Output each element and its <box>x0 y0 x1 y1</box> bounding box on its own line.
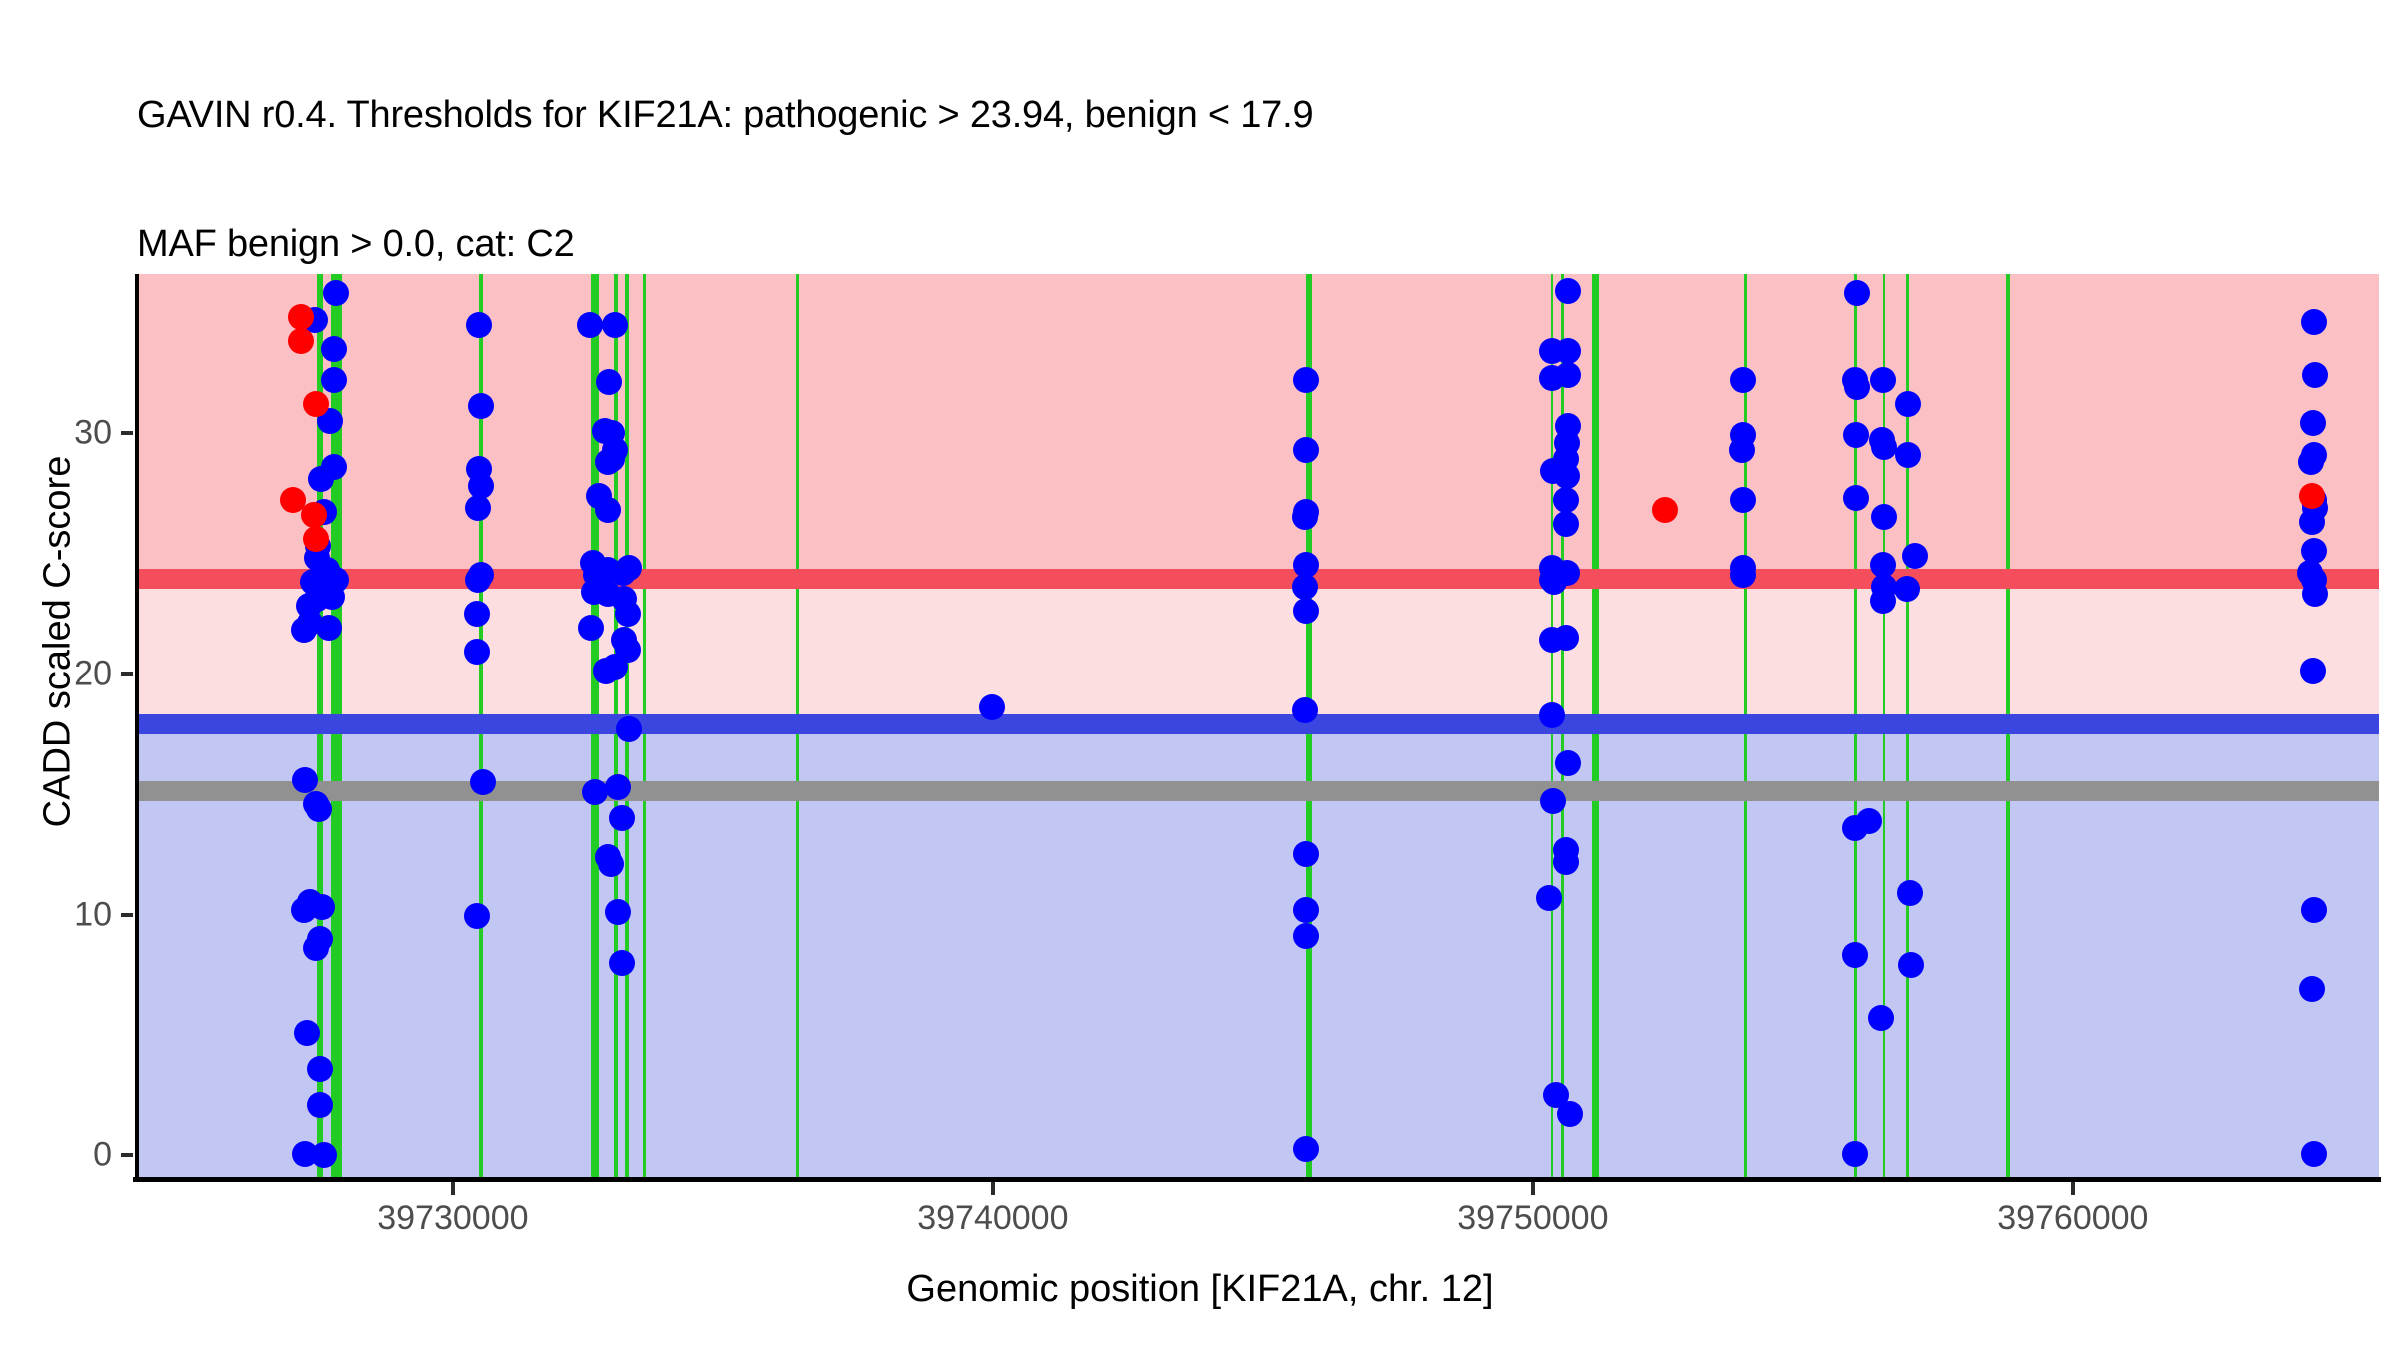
benign-point <box>1555 338 1581 364</box>
benign-point <box>1292 504 1318 530</box>
benign-point <box>466 312 492 338</box>
benign-point <box>308 466 334 492</box>
benign-point <box>1870 367 1896 393</box>
benign-point <box>1729 437 1755 463</box>
benign-point <box>1895 391 1921 417</box>
benign-point <box>1293 437 1319 463</box>
benign-point <box>303 935 329 961</box>
benign-point <box>2301 897 2327 923</box>
benign-point <box>598 851 624 877</box>
benign-point <box>306 796 332 822</box>
benign-point <box>609 950 635 976</box>
benign-point <box>578 615 604 641</box>
benign-point <box>2299 509 2325 535</box>
benign-point <box>1557 1101 1583 1127</box>
benign-point <box>316 615 342 641</box>
x-axis-line <box>133 1177 2381 1182</box>
benign-point <box>1293 841 1319 867</box>
y-tick-mark <box>121 431 133 435</box>
benign-point <box>465 495 491 521</box>
benign-point <box>1292 574 1318 600</box>
x-tick-mark <box>2071 1182 2075 1195</box>
pathogenic-point <box>288 304 314 330</box>
benign-point <box>307 1092 333 1118</box>
benign-point <box>1895 442 1921 468</box>
x-tick-mark <box>451 1182 455 1195</box>
x-tick-label: 39750000 <box>1457 1199 1608 1238</box>
benign-point <box>2300 658 2326 684</box>
x-tick-mark <box>991 1182 995 1195</box>
benign-point <box>1539 627 1565 653</box>
benign-point <box>1293 897 1319 923</box>
benign-point <box>616 555 642 581</box>
y-tick-label: 0 <box>20 1136 112 1175</box>
benign-point <box>1856 808 1882 834</box>
benign-point <box>615 601 641 627</box>
benign-point <box>1842 1141 1868 1167</box>
benign-point <box>464 639 490 665</box>
pathogenic-point <box>301 502 327 528</box>
benign-point <box>595 497 621 523</box>
benign-point <box>1553 849 1579 875</box>
y-tick-mark <box>121 672 133 676</box>
benign-point <box>602 312 628 338</box>
benign-point <box>1293 598 1319 624</box>
x-tick-label: 39760000 <box>1997 1199 2148 1238</box>
benign-point <box>2302 581 2328 607</box>
plot-panel <box>137 274 2379 1177</box>
benign-point <box>616 716 642 742</box>
plot-title-line-1: GAVIN r0.4. Thresholds for KIF21A: patho… <box>137 94 2237 137</box>
pathogenic-point <box>303 526 329 552</box>
benign-point <box>1292 697 1318 723</box>
benign-point <box>605 774 631 800</box>
x-tick-label: 39730000 <box>377 1199 528 1238</box>
plot-title-line-2: MAF benign > 0.0, cat: C2 <box>137 223 2237 266</box>
pathogenic-point <box>288 328 314 354</box>
pathogenic-point <box>1652 497 1678 523</box>
benign-point <box>2302 362 2328 388</box>
benign-point <box>1844 280 1870 306</box>
threshold-line-benign <box>137 714 2379 734</box>
benign-point <box>1293 923 1319 949</box>
benign-point <box>292 767 318 793</box>
benign-point <box>2301 309 2327 335</box>
benign-point <box>321 336 347 362</box>
benign-point <box>1897 880 1923 906</box>
benign-point <box>1902 543 1928 569</box>
benign-point <box>294 1020 320 1046</box>
pathogenic-point <box>2299 483 2325 509</box>
benign-point <box>464 903 490 929</box>
benign-point <box>577 312 603 338</box>
benign-point <box>465 567 491 593</box>
gavin-cadd-plot: GAVIN r0.4. Thresholds for KIF21A: patho… <box>0 0 2400 1350</box>
benign-point <box>1555 362 1581 388</box>
benign-point <box>307 1056 333 1082</box>
benign-point <box>2298 449 2324 475</box>
benign-point <box>1730 562 1756 588</box>
benign-point <box>464 601 490 627</box>
x-tick-label: 39740000 <box>917 1199 1068 1238</box>
benign-point <box>1871 504 1897 530</box>
x-axis-label: Genomic position [KIF21A, chr. 12] <box>0 1268 2400 1311</box>
benign-point <box>1536 885 1562 911</box>
y-axis-label: CADD scaled C-score <box>37 262 80 1022</box>
benign-point <box>1540 788 1566 814</box>
benign-point <box>321 367 347 393</box>
benign-point <box>609 805 635 831</box>
benign-point <box>602 654 628 680</box>
x-tick-mark <box>1531 1182 1535 1195</box>
benign-point <box>1868 1005 1894 1031</box>
benign-point <box>1539 702 1565 728</box>
y-tick-mark <box>121 1153 133 1157</box>
y-tick-mark <box>121 913 133 917</box>
benign-point <box>1555 278 1581 304</box>
benign-point <box>1293 367 1319 393</box>
y-axis-line <box>135 274 139 1177</box>
